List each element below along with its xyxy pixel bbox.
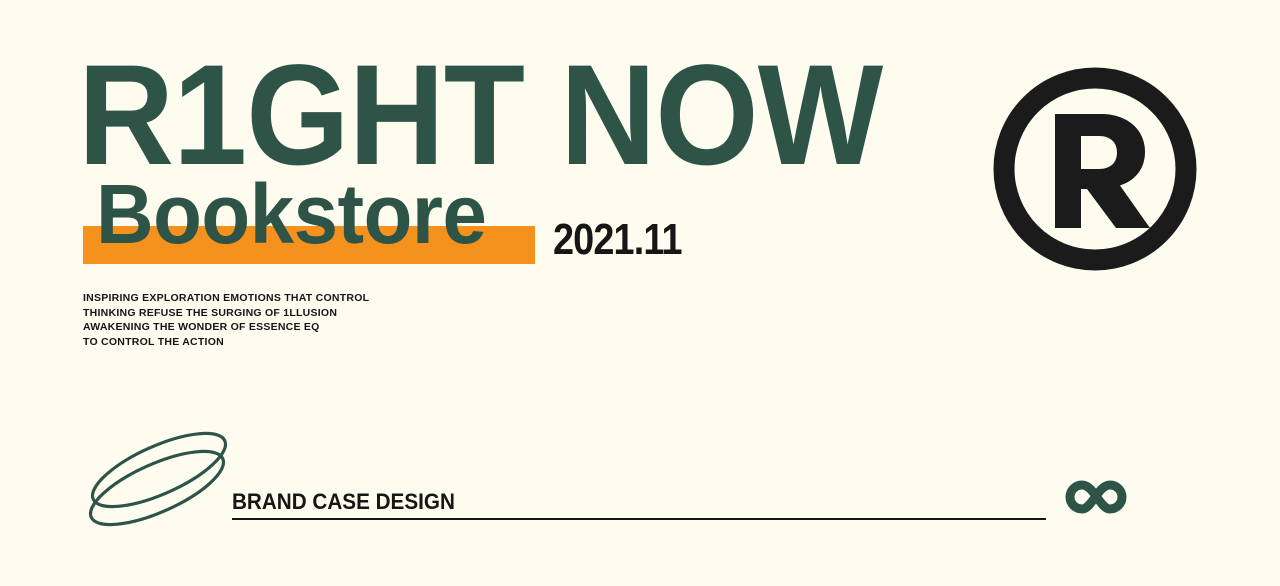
body-copy-line-1: INSPIRING EXPLORATION EMOTIONS THAT CONT…	[83, 291, 369, 306]
footer-caption: BRAND CASE DESIGN	[232, 491, 455, 513]
double-ellipse-logo-icon	[78, 428, 238, 530]
date-stamp: 2021.11	[553, 218, 682, 262]
footer-divider-rule	[232, 518, 1046, 520]
body-copy-block: INSPIRING EXPLORATION EMOTIONS THAT CONT…	[83, 291, 369, 349]
poster-canvas: R1GHT NOW Bookstore 2021.11 INSPIRING EX…	[0, 0, 1280, 586]
body-copy-line-3: AWAKENING THE WONDER OF ESSENCE EQ	[83, 320, 369, 335]
registered-trademark-r-icon	[993, 67, 1197, 271]
body-copy-line-4: TO CONTROL THE ACTION	[83, 335, 369, 350]
page-subtitle-bookstore: Bookstore	[96, 172, 486, 256]
body-copy-line-2: THINKING REFUSE THE SURGING OF 1LLUSION	[83, 306, 369, 321]
page-title-headline: R1GHT NOW	[78, 44, 882, 187]
infinity-icon	[1052, 473, 1140, 521]
